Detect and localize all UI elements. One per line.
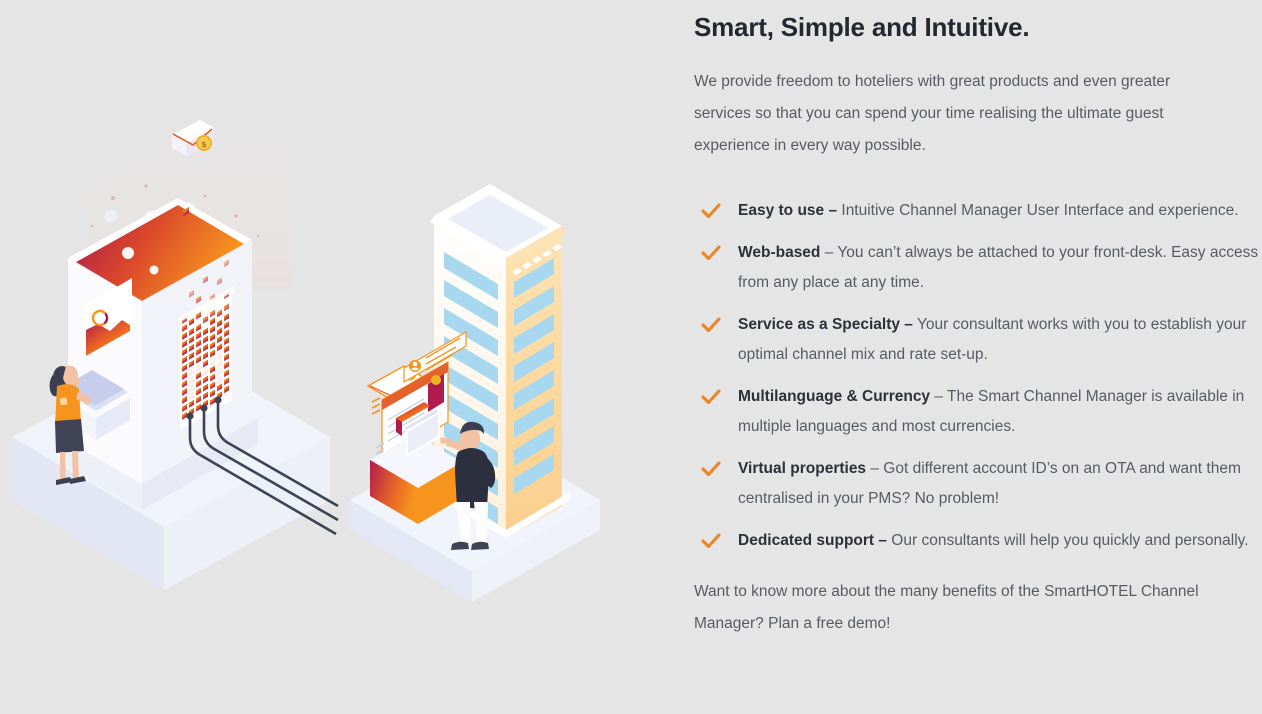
page-root: $ [0,0,1262,714]
svg-text:$: $ [201,140,207,149]
illustration-pane: $ [0,0,690,714]
content-pane: Smart, Simple and Intuitive. We provide … [690,0,1262,714]
list-item: Multilanguage & Currency – The Smart Cha… [694,382,1262,442]
benefits-list: Easy to use – Intuitive Channel Manager … [694,196,1262,556]
benefit-term: Service as a Specialty – [738,316,913,333]
list-item: Web-based – You can’t always be attached… [694,238,1262,298]
outro-paragraph: Want to know more about the many benefit… [694,576,1254,640]
intro-paragraph: We provide freedom to hoteliers with gre… [694,66,1229,162]
check-icon [700,200,722,222]
benefit-desc: Our consultants will help you quickly an… [887,532,1249,549]
benefit-term: Dedicated support – [738,532,887,549]
page-title: Smart, Simple and Intuitive. [694,6,1262,44]
check-icon [700,242,722,264]
benefit-term: Easy to use – [738,202,837,219]
isometric-scene-svg: $ [0,0,690,714]
check-icon [700,458,722,480]
benefit-term: Multilanguage & Currency [738,388,930,405]
check-icon [700,530,722,552]
check-icon [700,314,722,336]
benefit-term: Virtual properties [738,460,866,477]
check-icon [700,386,722,408]
benefit-term: Web-based [738,244,820,261]
benefit-desc: Intuitive Channel Manager User Interface… [837,202,1239,219]
list-item: Service as a Specialty – Your consultant… [694,310,1262,370]
list-item: Dedicated support – Our consultants will… [694,526,1262,556]
list-item: Easy to use – Intuitive Channel Manager … [694,196,1262,226]
list-item: Virtual properties – Got different accou… [694,454,1262,514]
